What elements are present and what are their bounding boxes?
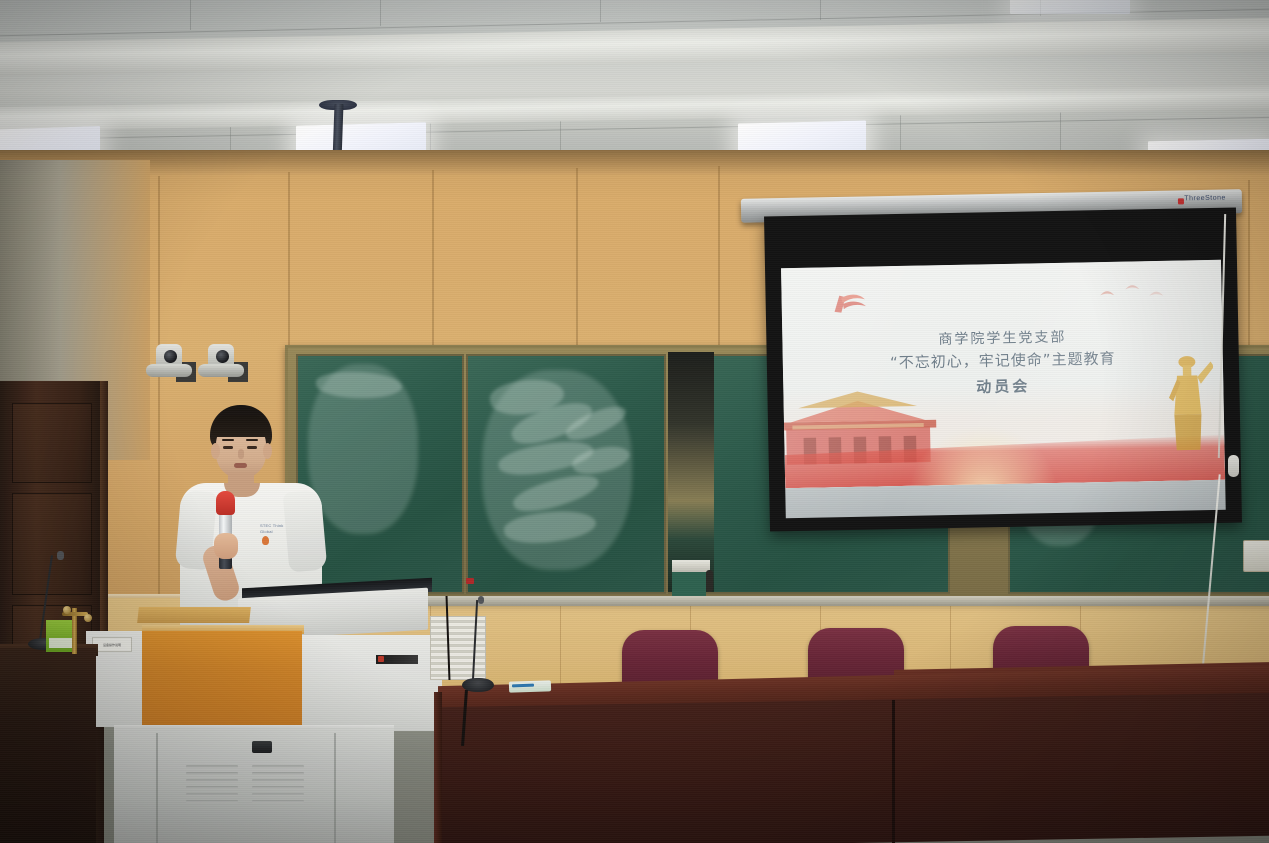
- conference-desk-left-edge: [434, 692, 442, 843]
- projection-screen: 商学院学生党支部 “不忘初心，牢记使命”主题教育 动员会 党建宣传素材: [764, 207, 1242, 531]
- ceiling-tile-seam: [820, 0, 821, 20]
- wall-panel-seam: [158, 176, 160, 606]
- ceiling-tile-seam: [600, 0, 601, 22]
- side-table: [0, 648, 96, 843]
- desk-gooseneck-mic-capsule: [478, 596, 484, 604]
- nose: [238, 449, 244, 459]
- hand: [214, 533, 238, 559]
- podium-front-panel: [142, 631, 302, 735]
- shirt-logo-icon: [262, 536, 269, 545]
- ear-right: [263, 443, 272, 459]
- green-box-label: [49, 638, 73, 648]
- wall-panel-seam: [718, 166, 720, 346]
- classroom-photo: ThreeStone: [0, 0, 1269, 843]
- side-gooseneck-mic-capsule: [57, 551, 64, 560]
- podium-wood-ledge: [137, 607, 251, 623]
- brow-left: [222, 439, 234, 441]
- wall-panel-seam: [576, 168, 578, 346]
- podium-vent-right: [252, 765, 304, 809]
- podium-vent-left: [186, 765, 238, 809]
- wall-top-shadow: [0, 150, 1269, 176]
- light-panel-5: [1010, 0, 1130, 14]
- blackboard-red-marker: [466, 578, 474, 584]
- camera-base: [198, 364, 244, 377]
- blackboard-recess-shelf: [672, 560, 710, 572]
- gold-stand-knob: [63, 606, 71, 614]
- hair-fringe: [212, 415, 270, 437]
- slide-birds-decoration: [1091, 279, 1182, 309]
- ptz-camera-left: [146, 344, 192, 386]
- blackboard-latch[interactable]: [706, 570, 713, 592]
- conference-desk-front: [438, 693, 1269, 843]
- eye-left: [223, 446, 233, 449]
- mouth: [234, 463, 247, 468]
- brand-mark-icon: [1178, 198, 1184, 204]
- slide-glow: [907, 423, 1058, 488]
- cpc-party-emblem-icon: [827, 287, 872, 322]
- wall-grille: [430, 616, 486, 680]
- blackboard-panel[interactable]: [466, 354, 666, 594]
- ear-left: [211, 443, 220, 459]
- blackboard-recess: [668, 352, 714, 592]
- wall-switch-plate[interactable]: [1243, 540, 1269, 572]
- screen-brand-label: ThreeStone: [1184, 194, 1226, 202]
- camera-lens-icon: [164, 350, 177, 363]
- door-panel: [12, 403, 92, 483]
- ptz-camera-right: [198, 344, 244, 386]
- lectern-podium[interactable]: 设备操作说明: [86, 617, 442, 843]
- podium-side-right: [299, 635, 442, 731]
- wall-panel-seam: [432, 170, 434, 348]
- ceiling-tile-seam: [190, 0, 191, 30]
- podium-door-latch[interactable]: [252, 741, 272, 753]
- door-panel: [12, 493, 92, 595]
- conference-desk-joint: [892, 700, 895, 843]
- slide-text-block: 商学院学生党支部 “不忘初心，牢记使命”主题教育 动员会: [782, 325, 1223, 406]
- podium-instruction-label: 设备操作说明: [92, 637, 132, 652]
- chalk-tray: [283, 596, 1269, 606]
- wall-panel-seam: [288, 172, 290, 352]
- gold-stand-knob: [84, 614, 92, 622]
- pull-cord-toggle[interactable]: [1228, 455, 1239, 477]
- podium-cabinet-seam: [156, 733, 158, 843]
- projection-surface: 商学院学生党支部 “不忘初心，牢记使命”主题教育 动员会 党建宣传素材: [781, 260, 1226, 518]
- eye-right: [247, 446, 257, 449]
- ceiling-tile-seam: [380, 0, 381, 26]
- blackboard-recess-box: [672, 572, 706, 596]
- podium-cabinet-seam: [334, 733, 336, 843]
- handheld-microphone-head: [216, 491, 235, 515]
- podium-brand-icon: [378, 656, 384, 662]
- brow-right: [246, 439, 258, 441]
- presentation-slide: 商学院学生党支部 “不忘初心，牢记使命”主题教育 动员会: [781, 260, 1225, 488]
- camera-base: [146, 364, 192, 377]
- camera-lens-icon: [216, 350, 229, 363]
